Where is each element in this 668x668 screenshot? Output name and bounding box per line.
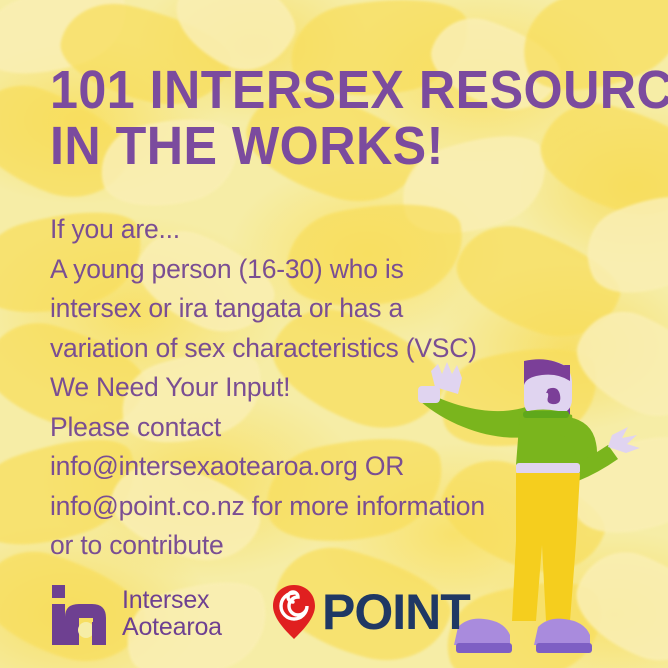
body-line-6: Please contact (50, 408, 650, 448)
right-shoe-sole (536, 643, 592, 653)
right-shoe (534, 619, 590, 645)
ia-wordmark: Intersex Aotearoa (122, 587, 222, 641)
ia-word-line-2: Aotearoa (122, 614, 222, 641)
point-logo: POINT (270, 583, 470, 641)
ia-word-line-1: Intersex (122, 587, 222, 614)
intersex-aotearoa-logo: Intersex Aotearoa (48, 583, 222, 645)
body-line-2: A young person (16-30) who is (50, 250, 650, 290)
body-line-1: If you are... (50, 210, 650, 250)
body-line-4: variation of sex characteristics (VSC) (50, 329, 650, 369)
poster-canvas: 101 INTERSEX RESOURCE IN THE WORKS! (0, 0, 668, 668)
map-pin-spiral-icon (270, 583, 318, 641)
body-line-9: or to contribute (50, 526, 650, 566)
headline: 101 INTERSEX RESOURCE IN THE WORKS! (50, 62, 589, 174)
body-line-8-email-point: info@point.co.nz for more information (50, 487, 650, 527)
point-wordmark: POINT (322, 587, 470, 637)
body-copy: If you are... A young person (16-30) who… (50, 210, 650, 566)
ia-monogram-icon (48, 583, 110, 645)
body-line-5: We Need Your Input! (50, 368, 650, 408)
headline-line-1: 101 INTERSEX RESOURCE (50, 62, 589, 118)
body-line-3: intersex or ira tangata or has a (50, 289, 650, 329)
left-shoe-sole (456, 643, 512, 653)
headline-line-2: IN THE WORKS! (50, 118, 589, 174)
body-line-7-email-intersex: info@intersexaotearoa.org OR (50, 447, 650, 487)
